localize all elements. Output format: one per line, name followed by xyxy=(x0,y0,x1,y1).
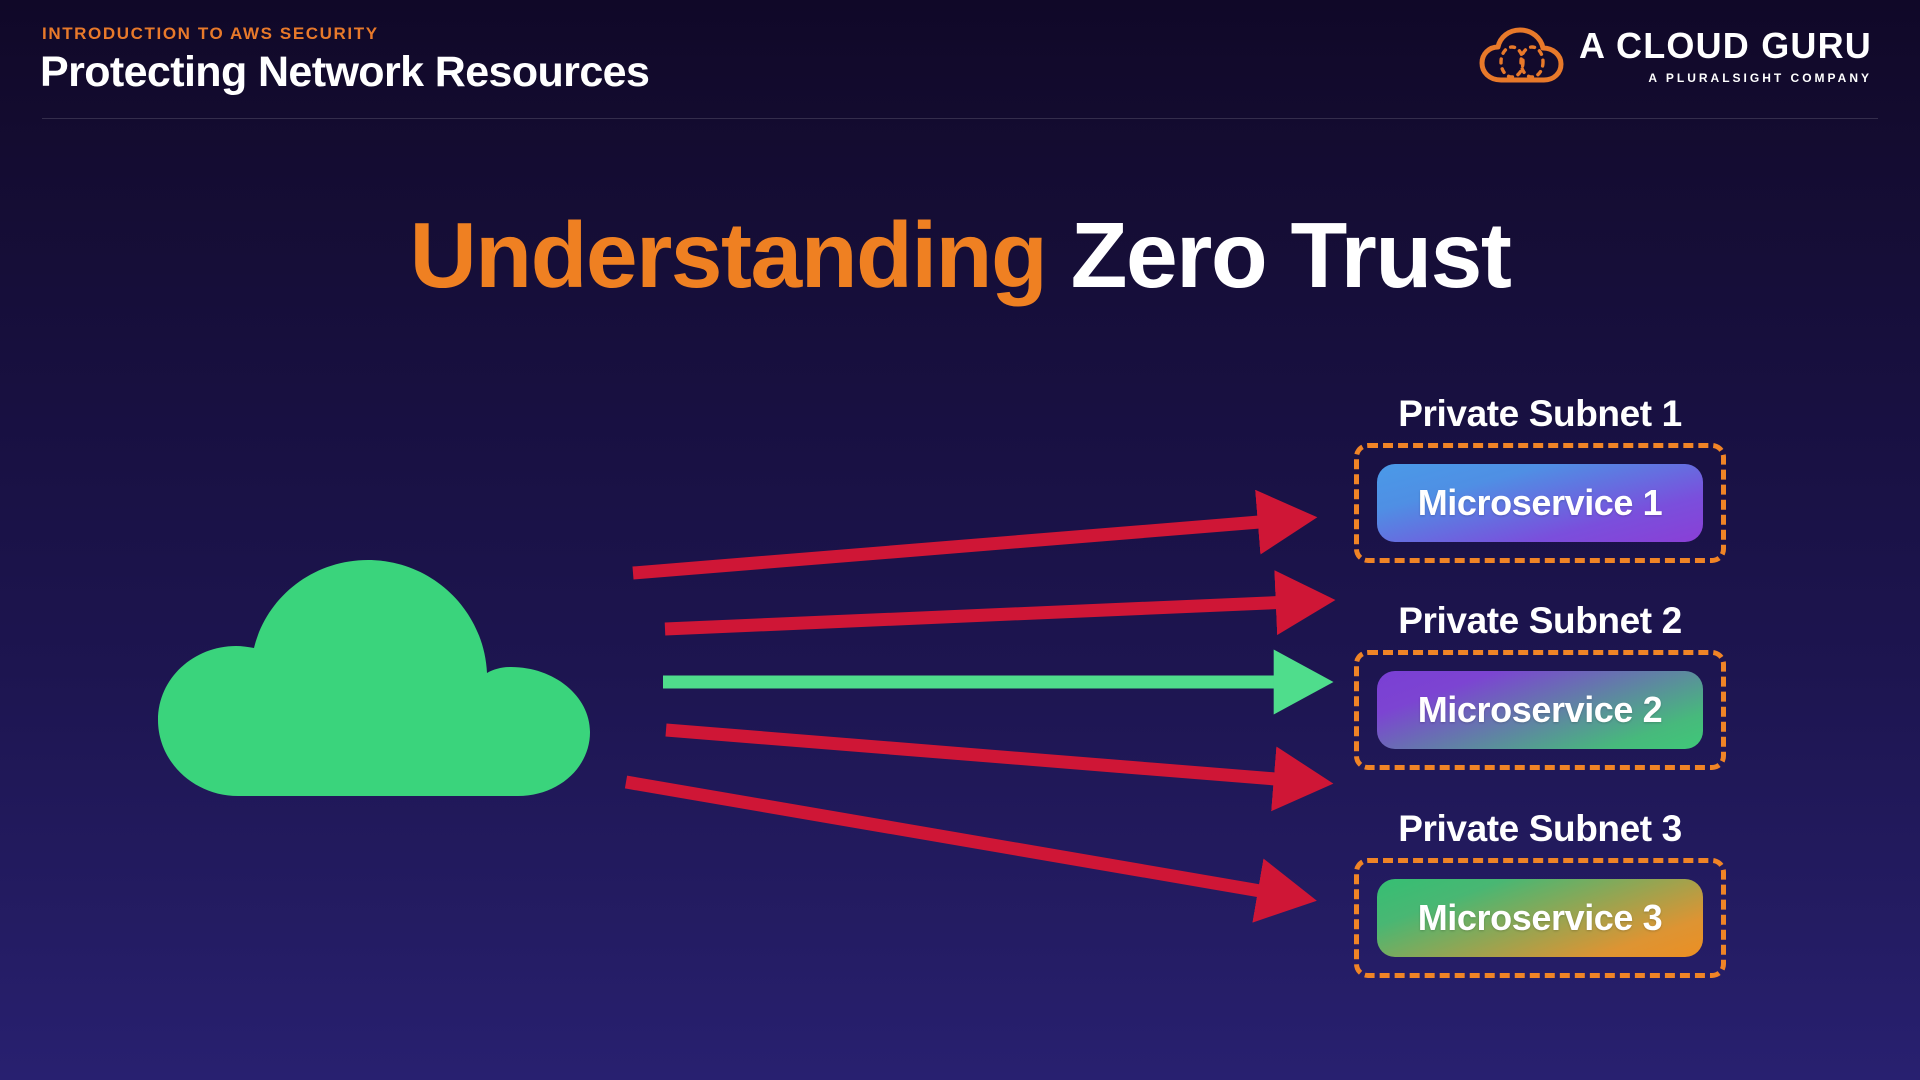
blocked-arrow-4 xyxy=(626,782,1272,893)
microservice-card-3[interactable]: Microservice 3 xyxy=(1377,879,1703,957)
microservice-label-2: Microservice 2 xyxy=(1418,689,1663,731)
subnet-label-3: Private Subnet 3 xyxy=(1354,810,1726,849)
subnet-boundary-2: Microservice 2 xyxy=(1354,650,1726,770)
subnet-boundary-1: Microservice 1 xyxy=(1354,443,1726,563)
blocked-arrow-3 xyxy=(666,730,1288,780)
microservice-label-3: Microservice 3 xyxy=(1418,897,1663,939)
subnet-boundary-3: Microservice 3 xyxy=(1354,858,1726,978)
zero-trust-diagram: Private Subnet 1 Microservice 1 Private … xyxy=(0,0,1920,1080)
subnet-group-1: Private Subnet 1 Microservice 1 xyxy=(1354,395,1726,563)
blocked-arrow-1 xyxy=(633,521,1272,573)
subnet-label-2: Private Subnet 2 xyxy=(1354,602,1726,641)
subnet-group-3: Private Subnet 3 Microservice 3 xyxy=(1354,810,1726,978)
subnet-label-1: Private Subnet 1 xyxy=(1354,395,1726,434)
microservice-card-2[interactable]: Microservice 2 xyxy=(1377,671,1703,749)
blocked-arrow-2 xyxy=(665,602,1290,629)
microservice-card-1[interactable]: Microservice 1 xyxy=(1377,464,1703,542)
cloud-icon xyxy=(150,470,710,800)
subnet-group-2: Private Subnet 2 Microservice 2 xyxy=(1354,602,1726,770)
microservice-label-1: Microservice 1 xyxy=(1418,482,1663,524)
